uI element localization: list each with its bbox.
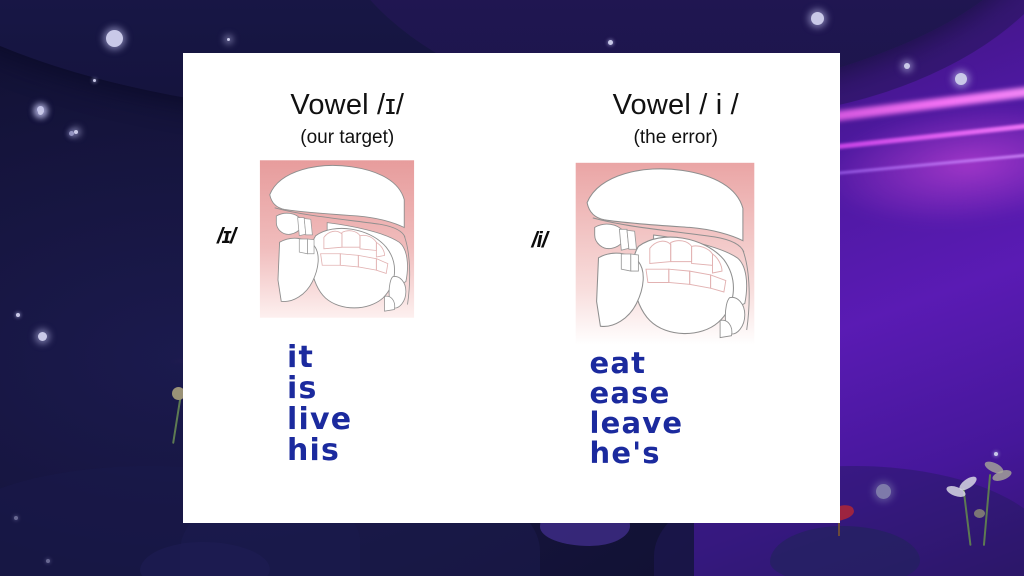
word-list-target: it is live his	[287, 343, 352, 467]
star-icon	[955, 73, 967, 85]
star-icon	[38, 332, 47, 341]
sagittal-vocal-tract-diagram-error	[570, 159, 760, 349]
vowel-title-target: Vowel /ɪ/	[183, 89, 512, 122]
star-icon	[74, 130, 78, 134]
vowel-subtitle-target: (our target)	[183, 127, 512, 149]
star-icon	[994, 452, 998, 456]
sagittal-vocal-tract-diagram-target	[255, 157, 419, 321]
word-item: leave	[590, 409, 684, 439]
diagram-area-target: /ɪ/	[183, 161, 512, 351]
star-icon	[608, 40, 613, 45]
word-list-error: eat ease leave he's	[590, 349, 684, 468]
diagram-area-error: /i/	[512, 161, 841, 351]
star-icon	[106, 30, 123, 47]
word-item: his	[287, 436, 352, 467]
star-icon	[904, 63, 910, 69]
ipa-label-error: /i/	[532, 227, 547, 253]
vowel-title-error: Vowel / i /	[512, 89, 841, 122]
word-item: he's	[590, 439, 684, 469]
star-icon	[811, 12, 824, 25]
ipa-label-target: /ɪ/	[217, 223, 235, 249]
two-column-layout: Vowel /ɪ/ (our target) /ɪ/	[183, 53, 840, 523]
slide-panel: Vowel /ɪ/ (our target) /ɪ/	[183, 53, 840, 523]
star-icon	[227, 38, 230, 41]
word-item: is	[287, 374, 352, 405]
star-icon	[16, 313, 20, 317]
column-error-vowel: Vowel / i / (the error) /i/	[512, 53, 841, 523]
star-icon	[38, 110, 43, 115]
word-item: live	[287, 405, 352, 436]
word-item: eat	[590, 349, 684, 379]
slide-stage: Vowel /ɪ/ (our target) /ɪ/	[0, 0, 1024, 576]
vowel-subtitle-error: (the error)	[512, 127, 841, 149]
plant-white-flower	[940, 460, 1020, 546]
column-target-vowel: Vowel /ɪ/ (our target) /ɪ/	[183, 53, 512, 523]
word-item: ease	[590, 379, 684, 409]
star-icon	[93, 79, 96, 82]
word-item: it	[287, 343, 352, 374]
